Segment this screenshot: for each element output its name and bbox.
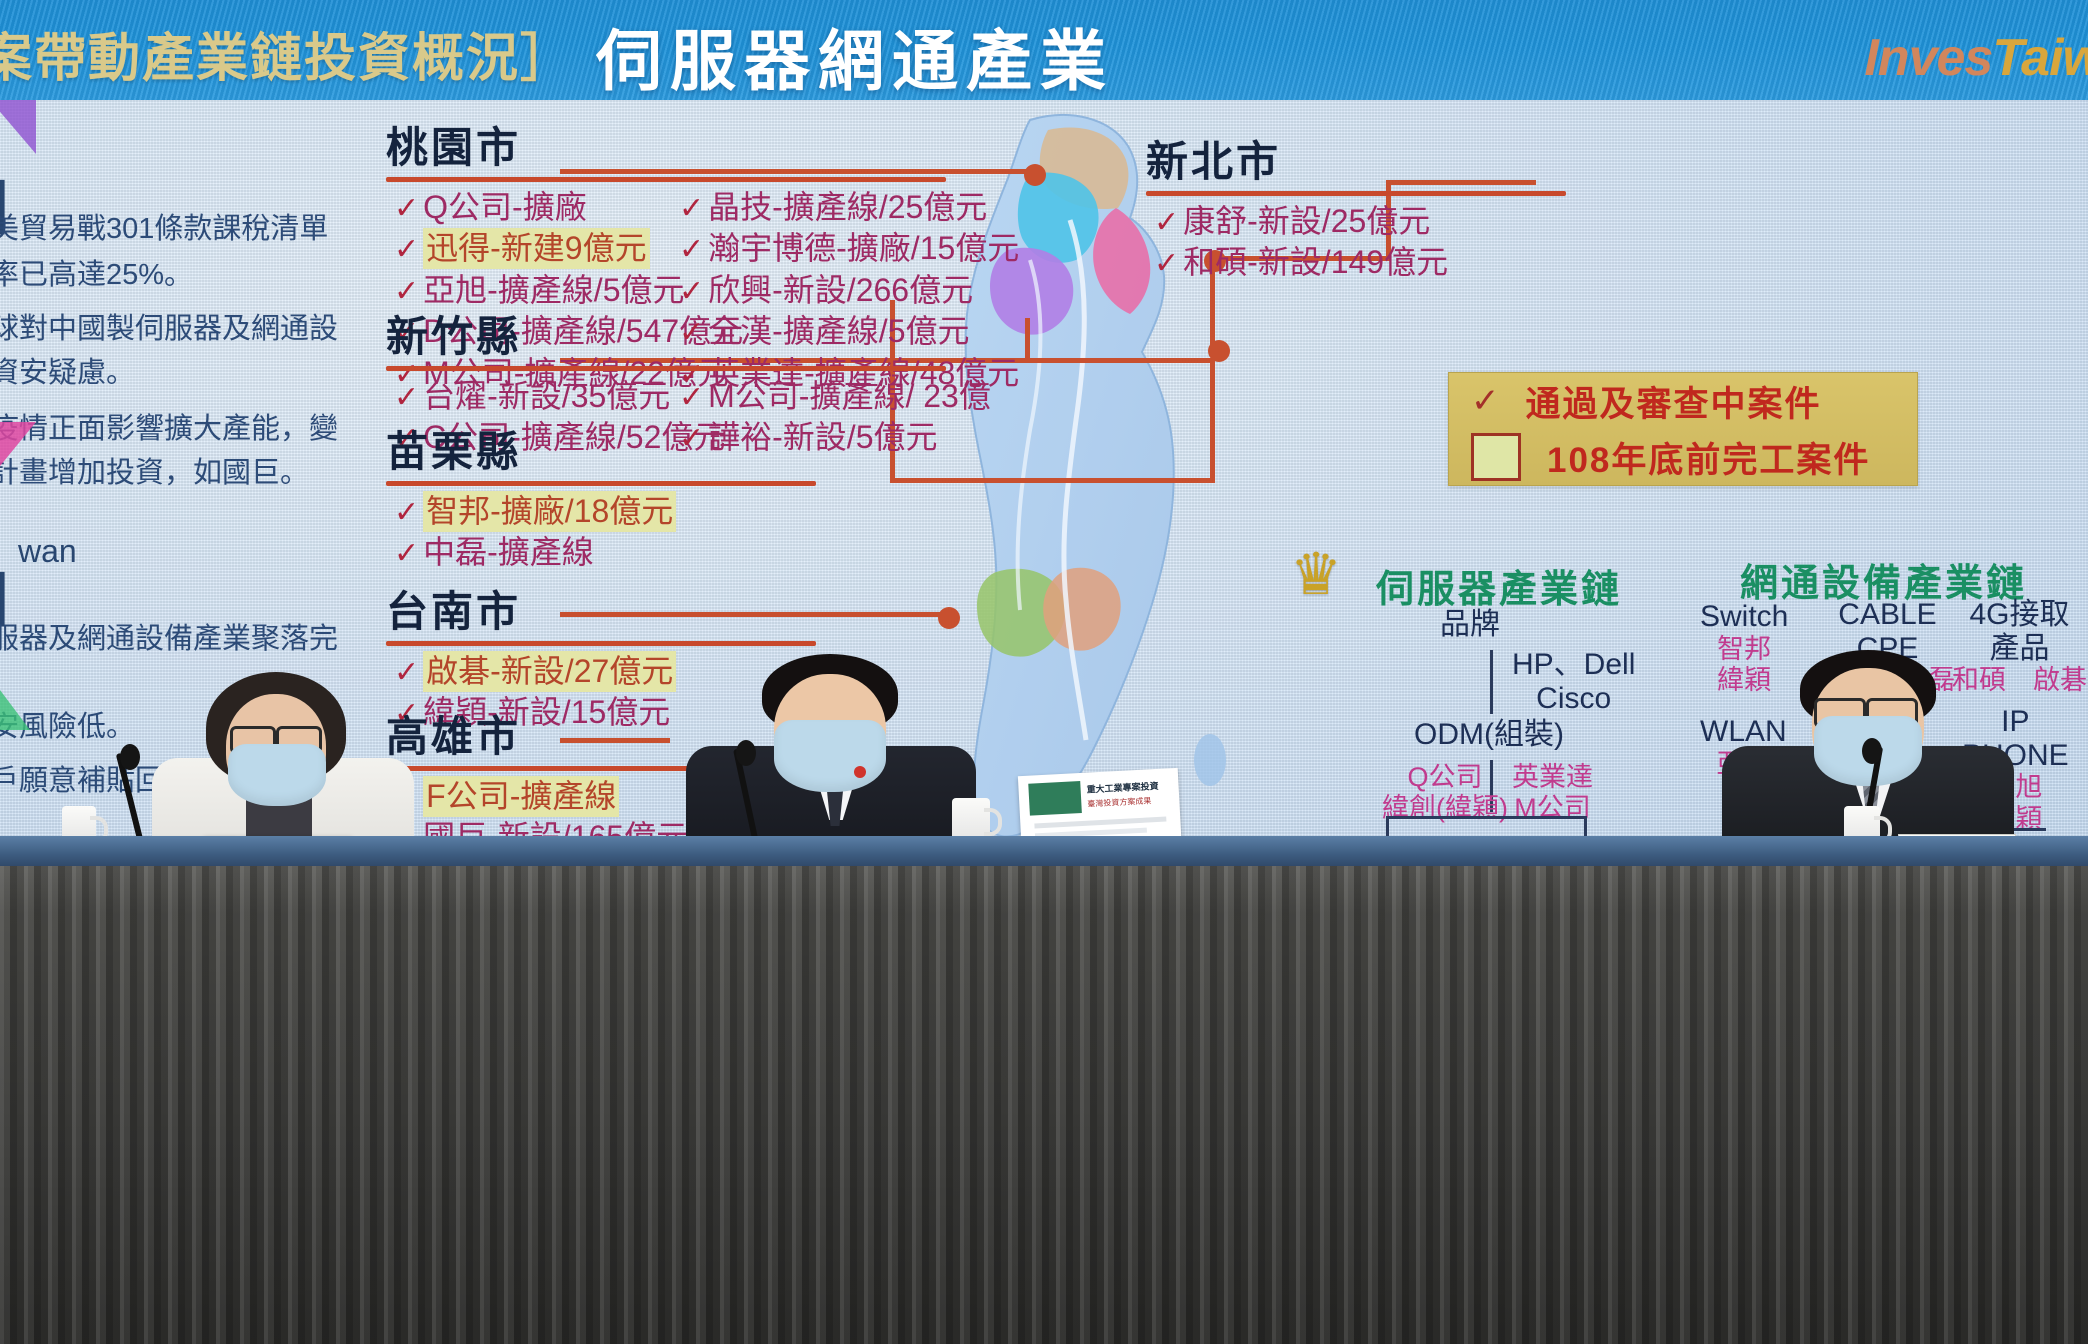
server-co-inventec: 英業達 <box>1512 762 1593 793</box>
check-icon: ✓ <box>679 379 704 417</box>
server-node-odm: ODM(組裝) <box>1414 718 1564 752</box>
check-icon: ✓ <box>394 494 419 532</box>
miaoli-col-1: ✓智邦-擴廠/18億元 ✓中磊-擴產線 <box>394 491 816 574</box>
speaker-center-face-mask <box>774 720 886 792</box>
list-item-label: 啟碁-新設/27億元 <box>423 651 676 692</box>
city-title-miaoli: 苗栗縣 <box>386 418 816 479</box>
microphone-center-head <box>736 740 756 766</box>
network-node-cable-label: CABLE <box>1820 598 1955 632</box>
connector-dot-tainan <box>938 607 960 629</box>
check-icon: ✓ <box>394 190 419 228</box>
list-item-label: 瀚宇博德-擴廠/15億元 <box>708 228 1019 269</box>
list-item: ✓和碩-新設/149億元 <box>1154 242 1566 283</box>
left-line-5: 疫情正面影響擴大產能，變 <box>0 406 338 453</box>
check-icon: ✓ <box>1154 204 1179 242</box>
left-line-6: 計畫增加投資，如國巨。 <box>0 450 309 497</box>
header-subtitle: 案帶動產業鏈投資概況］ <box>0 16 574 91</box>
server-co-q: Q公司 <box>1382 762 1508 793</box>
speaker-left-face-mask <box>228 744 326 806</box>
invest-taiwan-logo: InvesTaiw <box>1864 28 2088 88</box>
list-item: ✓康舒-新設/25億元 <box>1154 201 1566 242</box>
document-title: 重大工業專案投資 <box>1086 779 1159 796</box>
conference-table <box>0 836 2088 1344</box>
server-node-brand: 品牌 <box>1440 608 1500 642</box>
city-items-miaoli: ✓智邦-擴廠/18億元 ✓中磊-擴產線 <box>386 491 816 574</box>
server-node-vendors-label2: Cisco <box>1512 682 1635 716</box>
city-title-hsinchu: 新竹縣 <box>386 303 946 364</box>
list-item-label: M公司-擴產線/ 23億 <box>708 376 991 417</box>
list-item-label: Q公司-擴廠 <box>423 187 587 228</box>
list-item-label: 康舒-新設/25億元 <box>1183 201 1430 242</box>
legend-box: ✓ 通過及審查中案件 108年底前完工案件 <box>1448 372 1918 486</box>
list-item-label: 中磊-擴產線 <box>423 532 594 573</box>
list-item: ✓台燿-新設/35億元 <box>394 376 725 417</box>
logo-part-1: Inves <box>1864 29 1992 87</box>
check-icon: ✓ <box>679 231 704 269</box>
server-co-wistron: 緯創(緯穎) <box>1382 793 1508 824</box>
slide-title: 伺服器網通產業 <box>596 8 1114 100</box>
legend-label-completed: 108年底前完工案件 <box>1547 432 1870 483</box>
check-icon: ✓ <box>394 231 419 269</box>
microphone-left-head <box>120 744 140 770</box>
server-chain: 伺服器產業鏈 <box>1376 558 1622 613</box>
check-icon: ✓ <box>679 190 704 228</box>
speaker-center-lapel-pin <box>854 766 866 778</box>
list-item-label: 晶技-擴產線/25億元 <box>708 187 987 228</box>
city-rule-newtaipei <box>1146 191 1566 196</box>
document-subtitle: 臺灣投資方案成果 <box>1087 795 1151 809</box>
check-icon: ✓ <box>394 379 419 417</box>
check-icon: ✓ <box>1471 381 1500 421</box>
server-node-vendors-label: HP、Dell <box>1512 648 1635 682</box>
server-node-brand-label: 品牌 <box>1440 608 1500 642</box>
city-title-taoyuan: 桃園市 <box>386 114 946 175</box>
list-item-label: 智邦-擴廠/18億元 <box>423 491 676 532</box>
list-item: ✓瀚宇博德-擴廠/15億元 <box>679 228 1019 269</box>
server-connector-3 <box>1386 816 1586 819</box>
list-item: ✓智邦-擴廠/18億元 <box>394 491 816 532</box>
legend-row-approved: ✓ 通過及審查中案件 <box>1449 373 1917 429</box>
city-rule-hsinchu <box>386 366 946 371</box>
server-node-odm-label: ODM(組裝) <box>1414 718 1564 752</box>
city-rule-tainan <box>386 641 816 646</box>
slide-header: 案帶動產業鏈投資概況］ 伺服器網通產業 InvesTaiw <box>0 0 2088 100</box>
decor-triangle-purple <box>0 100 36 154</box>
logo-part-2: Taiw <box>1992 29 2088 87</box>
list-item-label: 迅得-新建9億元 <box>423 228 649 269</box>
table-top-edge <box>0 836 2088 870</box>
list-item-label: 台燿-新設/35億元 <box>423 376 670 417</box>
city-items-newtaipei: ✓康舒-新設/25億元 ✓和碩-新設/149億元 <box>1146 201 1566 284</box>
city-block-miaoli: 苗栗縣 ✓智邦-擴廠/18億元 ✓中磊-擴產線 <box>386 418 816 574</box>
list-item-label: 和碩-新設/149億元 <box>1183 242 1448 283</box>
decor-triangle-green <box>0 690 30 730</box>
server-connector-1 <box>1490 650 1493 714</box>
connector-hsinchu-v3 <box>1025 318 1030 360</box>
left-line-8: 服器及網通設備產業聚落完 <box>0 616 338 663</box>
connector-dot-taoyuan <box>1024 164 1046 186</box>
legend-row-completed: 108年底前完工案件 <box>1449 429 1917 485</box>
check-icon: ✓ <box>394 535 419 573</box>
list-item: ✓M公司-擴產線/ 23億 <box>679 376 991 417</box>
island-green <box>1194 734 1226 786</box>
left-line-2: 率已高達25%。 <box>0 252 193 299</box>
list-item: ✓中磊-擴產線 <box>394 532 816 573</box>
left-line-1: 美貿易戰301條款課稅清單 <box>0 206 328 253</box>
server-chain-title: 伺服器產業鏈 <box>1376 558 1622 613</box>
server-node-vendors: HP、Dell Cisco <box>1512 648 1635 715</box>
connector-dot-hsinchu <box>1208 340 1230 362</box>
list-item: ✓F公司-擴產線 <box>394 776 706 817</box>
connector-hsinchu-h2 <box>890 478 1215 483</box>
network-node-switch-label: Switch <box>1700 600 1788 634</box>
table-skirt <box>0 866 2088 1344</box>
list-item-label: F公司-擴產線 <box>423 776 619 817</box>
microphone-right-head <box>1862 738 1882 764</box>
left-line-3: 球對中國製伺服器及網通設 <box>0 306 338 353</box>
check-icon: ✓ <box>1154 245 1179 283</box>
left-line-4: 資安疑慮。 <box>0 350 135 397</box>
newtaipei-col-1: ✓康舒-新設/25億元 ✓和碩-新設/149億元 <box>1154 201 1566 284</box>
city-block-newtaipei: 新北市 ✓康舒-新設/25億元 ✓和碩-新設/149億元 <box>1146 128 1566 284</box>
press-conference-screenshot: 案帶動產業鏈投資概況］ 伺服器網通產業 InvesTaiw <box>0 0 2088 1344</box>
legend-label-approved: 通過及審查中案件 <box>1526 376 1822 427</box>
city-rule-taoyuan <box>386 177 946 182</box>
connector-hsinchu-v <box>1210 358 1215 478</box>
legend-swatch-icon <box>1471 433 1521 481</box>
city-title-tainan: 台南市 <box>386 578 816 639</box>
city-title-newtaipei: 新北市 <box>1146 128 1566 189</box>
crown-icon: ♛ <box>1290 540 1342 608</box>
network-node-4g-label: 4G接取 <box>1952 598 2087 632</box>
document-cover-image <box>1028 781 1082 816</box>
decor-triangle-pink <box>0 422 36 466</box>
server-co-m: M公司 <box>1512 793 1593 824</box>
list-item: ✓晶技-擴產線/25億元 <box>679 187 1019 228</box>
city-rule-miaoli <box>386 481 816 486</box>
